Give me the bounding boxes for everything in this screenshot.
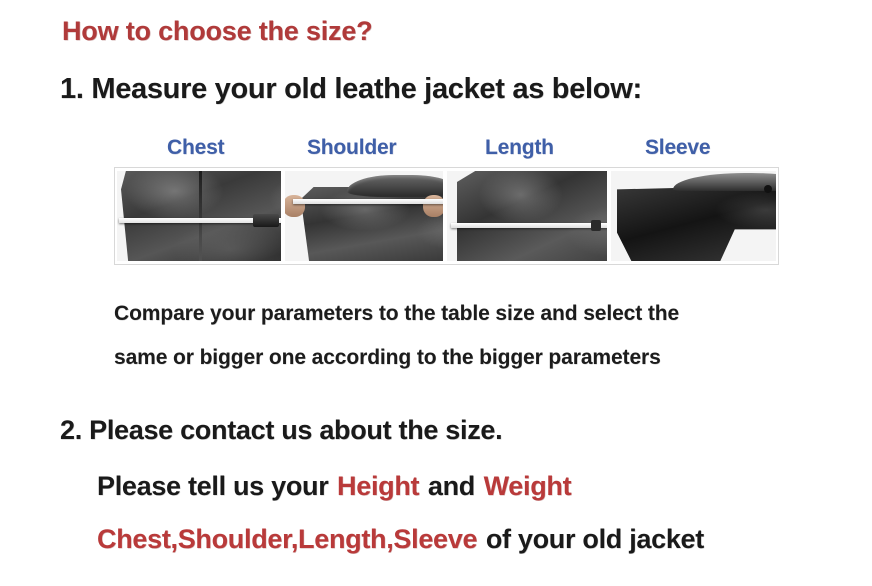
highlight-measurements: Chest,Shoulder,Length,Sleeve	[97, 524, 477, 554]
measurement-label-length: Length	[485, 136, 554, 160]
highlight-height: Height	[337, 471, 419, 501]
compare-line-1: Compare your parameters to the table siz…	[114, 292, 814, 336]
tell-us-line: Please tell us yourHeightandWeight	[97, 471, 571, 502]
jacket-collar	[347, 175, 443, 197]
chest-photo	[117, 171, 281, 261]
step-1-instruction: 1. Measure your old leathe jacket as bel…	[60, 73, 642, 106]
step-2-instruction: 2. Please contact us about the size.	[60, 415, 502, 446]
measurement-label-shoulder: Shoulder	[307, 136, 396, 160]
jacket-center-seam	[199, 171, 202, 261]
length-photo	[447, 171, 607, 261]
compare-line-2: same or bigger one according to the bigg…	[114, 336, 814, 380]
tell-us-middle: and	[428, 471, 475, 501]
parts-line: Chest,Shoulder,Length,Sleeveof your old …	[97, 524, 704, 555]
jacket-sleeve-image	[617, 183, 776, 261]
sleeve-photo	[611, 171, 776, 261]
page-title: How to choose the size?	[62, 16, 372, 47]
tape-end-icon	[253, 214, 279, 227]
compare-instructions: Compare your parameters to the table siz…	[114, 292, 814, 380]
parts-line-suffix: of your old jacket	[486, 524, 704, 554]
measurement-labels-row: Chest Shoulder Length Sleeve	[115, 136, 780, 164]
measurement-photo-strip	[114, 167, 779, 265]
tell-us-prefix: Please tell us your	[97, 471, 328, 501]
measurement-label-sleeve: Sleeve	[645, 136, 710, 160]
measurement-label-chest: Chest	[167, 136, 224, 160]
shoulder-photo	[285, 171, 443, 261]
jacket-body-image	[457, 171, 607, 261]
highlight-weight: Weight	[484, 471, 572, 501]
measuring-tape-shoulder	[293, 199, 443, 204]
tape-end-icon	[591, 220, 601, 231]
measuring-tape-length	[451, 223, 607, 228]
sleeve-cuff-marker	[764, 185, 772, 193]
sleeve-shoulder-cap	[673, 173, 776, 191]
size-guide-page: How to choose the size? 1. Measure your …	[0, 0, 872, 586]
